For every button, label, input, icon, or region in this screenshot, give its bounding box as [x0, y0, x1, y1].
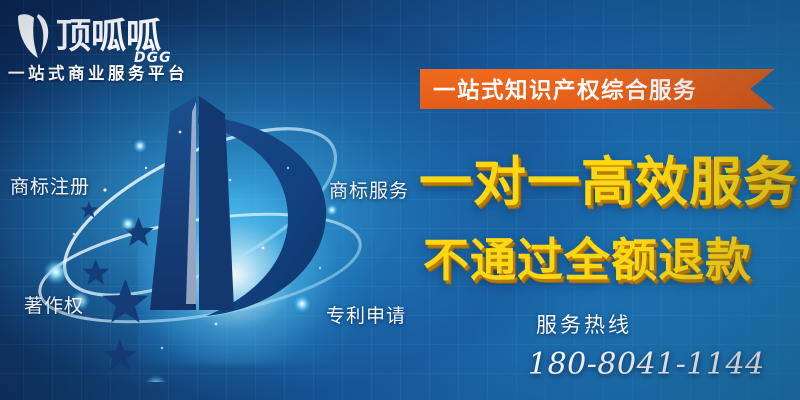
promo-banner: 商标注册 商标服务 著作权 专利申请 顶呱呱 DGG 一站式商业服务平台 一站式… [0, 0, 800, 400]
edge-vignette [0, 0, 800, 400]
